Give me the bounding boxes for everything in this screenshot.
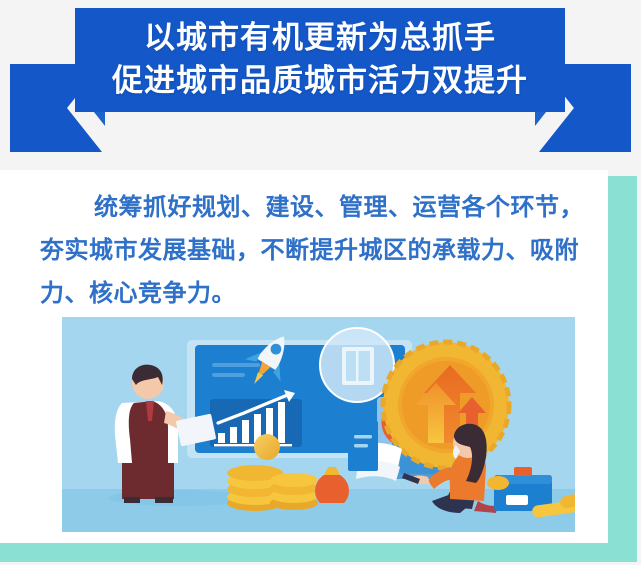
illustration-figure [62, 317, 575, 532]
banner-title-plate: 以城市有机更新为总抓手 促进城市品质城市活力双提升 [75, 8, 565, 112]
illustration-svg [62, 317, 575, 532]
poster-page: 以城市有机更新为总抓手 促进城市品质城市活力双提升 统筹抓好规划、建设、管理、运… [0, 0, 641, 565]
teal-right-band [608, 176, 637, 543]
ribbon-banner: 以城市有机更新为总抓手 促进城市品质城市活力双提升 [0, 0, 641, 170]
lead-paragraph: 统筹抓好规划、建设、管理、运营各个环节，夯实城市发展基础，不断提升城区的承载力、… [40, 186, 585, 315]
banner-title-line-2: 促进城市品质城市活力双提升 [112, 60, 528, 103]
banner-title-line-1: 以城市有机更新为总抓手 [144, 17, 496, 60]
teal-bottom-band [0, 543, 637, 562]
